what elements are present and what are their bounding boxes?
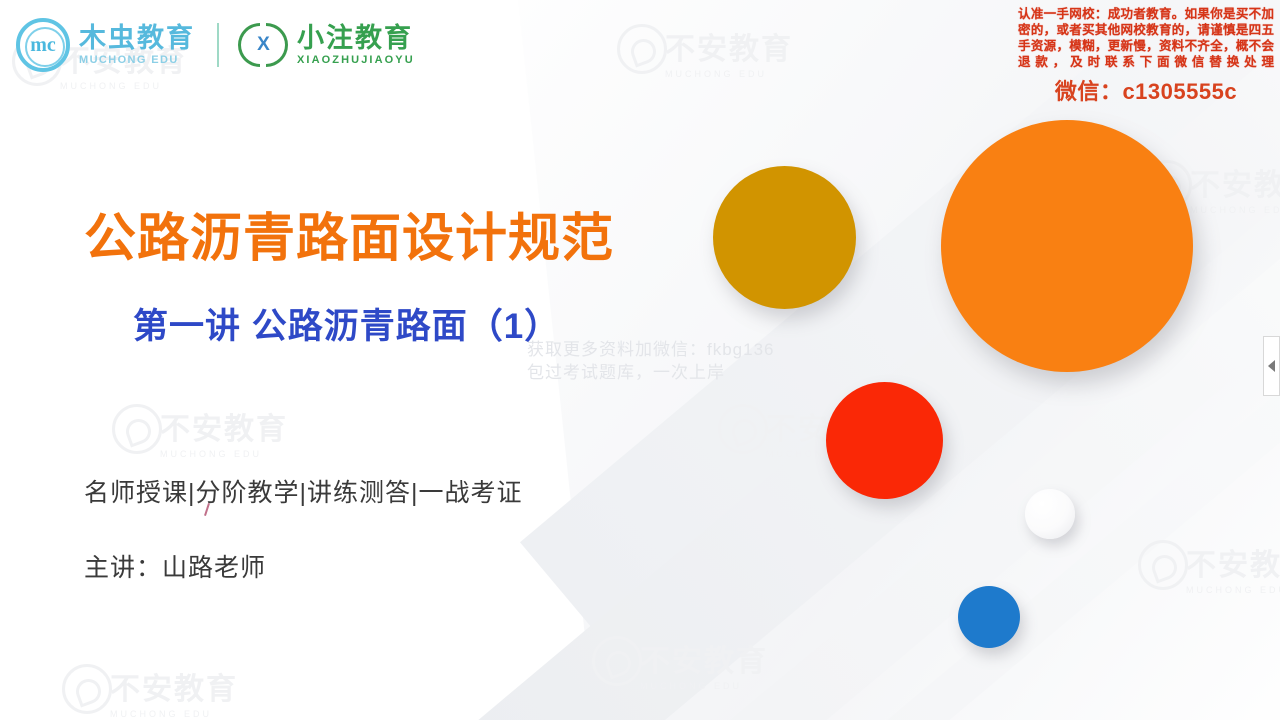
watermark-ring-icon	[112, 404, 162, 454]
decorative-circle-gold	[713, 166, 856, 309]
decorative-circle-red	[826, 382, 943, 499]
page-subtitle: 第一讲 公路沥青路面（1）	[133, 298, 560, 349]
decorative-circle-blue	[958, 586, 1020, 648]
watermark-brand-sub: MUCHONG EDU	[60, 81, 188, 91]
center-watermark-line2: 包过考试题库，一次上岸	[527, 361, 775, 384]
triangle-left-icon	[1268, 360, 1275, 372]
watermark-brand-text: 不安教育	[1186, 549, 1280, 582]
header-logos: mc 木虫教育 MUCHONG EDU X 小注教育 XIAOZHUJIAOYU	[16, 14, 415, 76]
background-shade	[506, 0, 1280, 720]
watermark-brand: 不安教育 MUCHONG EDU	[160, 404, 288, 459]
watermark-brand: 不安教育 MUCHONG EDU	[1190, 160, 1280, 215]
slide-canvas: 不安教育 MUCHONG EDU 不安教育 MUCHONG EDU 不安教育 M…	[0, 0, 1280, 720]
watermark-brand: 不安教育 MUCHONG EDU	[110, 664, 238, 719]
center-watermark-note: 获取更多资料加微信：fkbg136 包过考试题库，一次上岸	[527, 338, 775, 384]
promo-notice: 认准一手网校：成功者教育。如果你是买不加密的，或者买其他网校教育的，请谨慎是四五…	[1018, 6, 1274, 106]
watermark-ring-icon	[62, 664, 112, 714]
promo-wechat-label: 微信：	[1055, 79, 1123, 104]
center-watermark-line1: 获取更多资料加微信：fkbg136	[527, 338, 775, 361]
xiaozhu-name-en: XIAOZHUJIAOYU	[297, 54, 415, 66]
presenter-line: 主讲：山路老师	[84, 548, 266, 584]
watermark-brand: 不安教育 MUCHONG EDU	[640, 636, 768, 691]
xiaozhu-logo-glyph: X	[250, 31, 277, 58]
sidebar-toggle-button[interactable]	[1263, 336, 1280, 396]
watermark-ring-icon	[718, 404, 768, 454]
watermark-brand-sub: MUCHONG EDU	[110, 709, 238, 719]
logo-xiaozhu: X 小注教育 XIAOZHUJIAOYU	[237, 19, 415, 71]
promo-wechat-line: 微信：c1305555c	[1018, 74, 1274, 106]
promo-wechat-id: c1305555c	[1122, 79, 1237, 104]
watermark-brand: 不安教育 MUCHONG EDU	[665, 24, 793, 79]
watermark-brand-sub: MUCHONG EDU	[665, 69, 793, 79]
xiaozhu-name-cn: 小注教育	[297, 24, 415, 52]
promo-body-text: 认准一手网校：成功者教育。如果你是买不加密的，或者买其他网校教育的，请谨慎是四五…	[1018, 6, 1274, 70]
decorative-circle-orange	[941, 120, 1193, 372]
watermark-brand-sub: MUCHONG EDU	[160, 449, 288, 459]
muchong-name-cn: 木虫教育	[79, 24, 195, 52]
background-band	[632, 355, 1280, 720]
muchong-logo-icon: mc	[16, 18, 70, 72]
watermark-brand-text: 不安教育	[640, 645, 768, 678]
watermark-brand-text: 不安教育	[160, 413, 288, 446]
logo-muchong: mc 木虫教育 MUCHONG EDU	[16, 18, 195, 72]
watermark-brand-sub: MUCHONG EDU	[640, 681, 768, 691]
watermark-brand: 不安教育 MUCHONG EDU	[1186, 540, 1280, 595]
background-band	[448, 0, 1280, 720]
watermark-brand-sub: MUCHONG EDU	[1186, 585, 1280, 595]
features-line: 名师授课|分阶教学|讲练测答|一战考证	[84, 473, 522, 509]
decorative-circle-white	[1025, 489, 1075, 539]
watermark-brand-text: 不安教育	[110, 673, 238, 706]
xiaozhu-logo-icon: X	[237, 19, 289, 71]
muchong-logo-glyph: mc	[20, 22, 66, 68]
muchong-name-en: MUCHONG EDU	[79, 54, 195, 66]
watermark-ring-icon	[592, 636, 642, 686]
logo-divider	[217, 23, 219, 67]
watermark-brand-sub: MUCHONG EDU	[1190, 205, 1280, 215]
watermark-brand-text: 不安教育	[665, 33, 793, 66]
watermark-brand-text: 不安教育	[1190, 169, 1280, 202]
watermark-ring-icon	[1138, 540, 1188, 590]
page-title: 公路沥青路面设计规范	[84, 196, 614, 271]
watermark-ring-icon	[617, 24, 667, 74]
